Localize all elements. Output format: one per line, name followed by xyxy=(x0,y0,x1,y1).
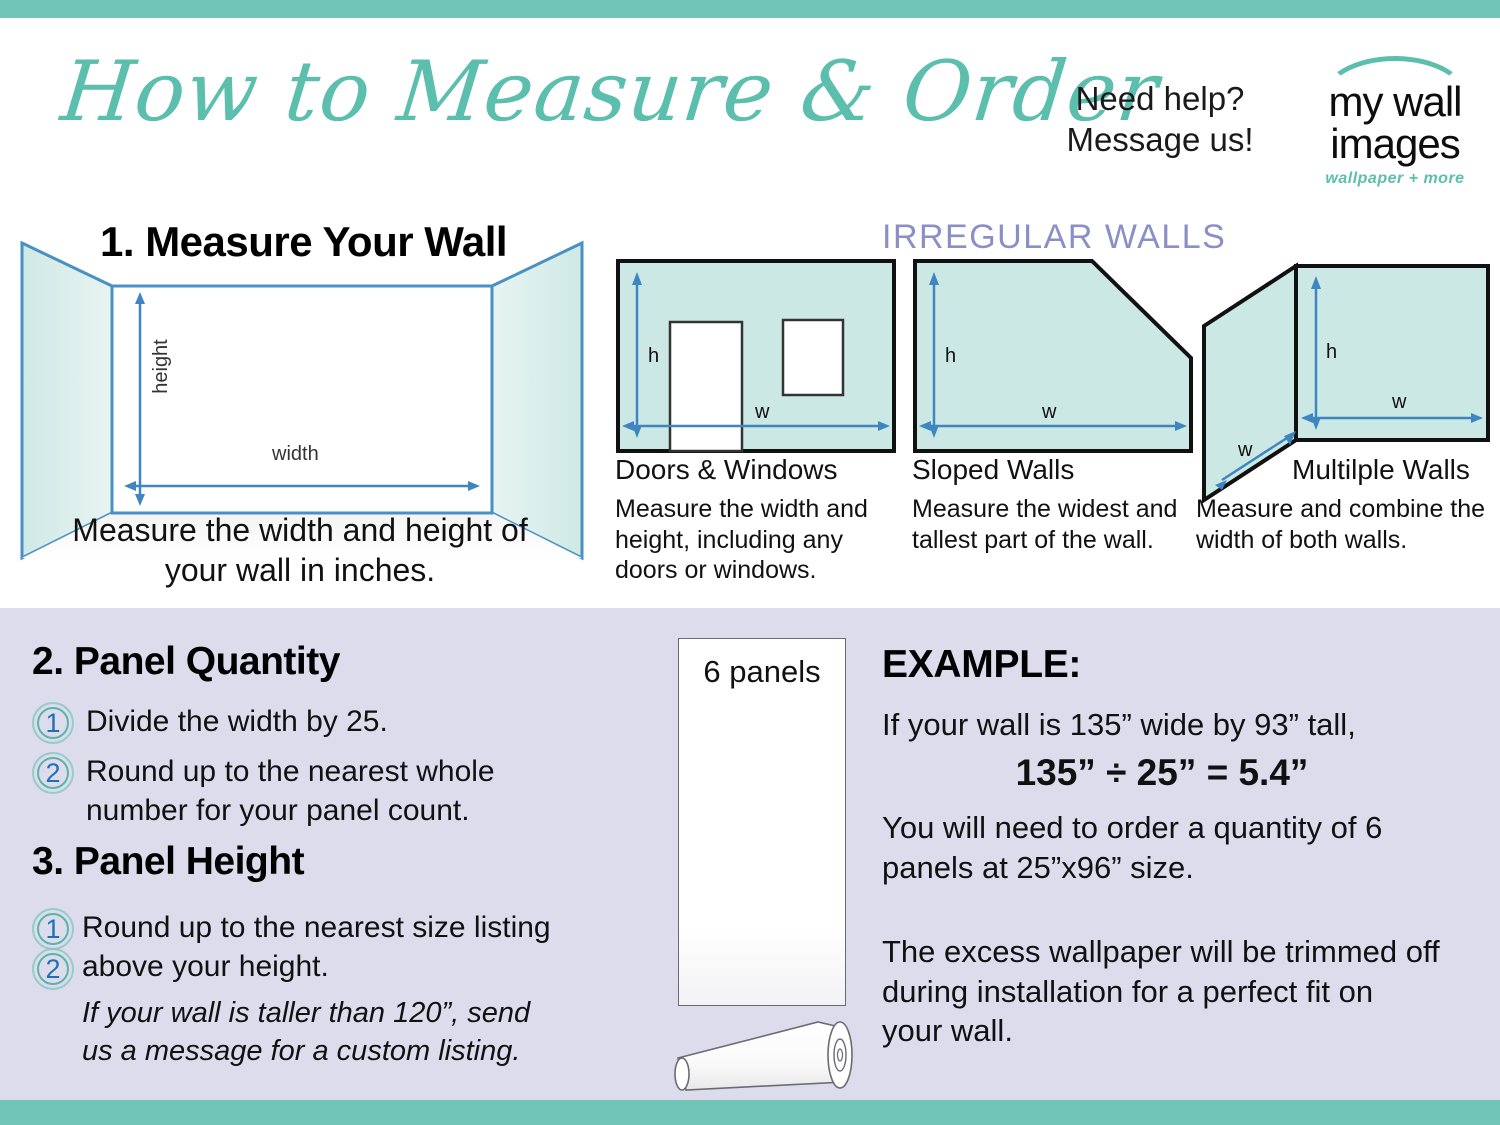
irregular-card-1-body: Measure the width and height, including … xyxy=(615,494,890,586)
step3-heading: 3. Panel Height xyxy=(32,840,304,884)
wallpaper-curl-svg xyxy=(668,998,868,1098)
infographic-page: How to Measure & Order Need help? Messag… xyxy=(0,0,1500,1125)
irregular-card-3-body: Measure and combine the width of both wa… xyxy=(1196,494,1496,555)
example-line-3: The excess wallpaper will be trimmed off… xyxy=(882,932,1442,1051)
example-heading: EXAMPLE: xyxy=(882,643,1081,687)
step3-badge-2: 2 xyxy=(32,948,74,990)
bottom-accent-bar xyxy=(0,1100,1500,1125)
irregular-card-sloped-walls: h w Sloped Walls Measure the widest and … xyxy=(912,258,1194,459)
step2-item-2: Round up to the nearest whole number for… xyxy=(86,752,556,830)
irregular-card-2-body: Measure the widest and tallest part of t… xyxy=(912,494,1182,555)
irregular-card-3-title: Multilple Walls xyxy=(1292,454,1470,486)
sloped-walls-svg: h w xyxy=(912,258,1194,454)
wallpaper-roll-illustration: 6 panels xyxy=(668,638,868,1078)
need-help-text: Need help? Message us! xyxy=(1020,78,1300,161)
example-line-2: You will need to order a quantity of 6 p… xyxy=(882,808,1442,887)
height-dimension-label: height xyxy=(150,335,173,398)
svg-text:h: h xyxy=(648,345,659,367)
irregular-card-multiple-walls: h w w Multilple Walls Measure and combin… xyxy=(1196,258,1496,511)
step3-badge-2-number: 2 xyxy=(32,948,74,990)
svg-text:w: w xyxy=(1391,391,1407,413)
step2-badge-2: 2 xyxy=(32,752,74,794)
logo-word-line-1: my wall xyxy=(1305,82,1485,122)
width-dimension-label: width xyxy=(268,443,323,466)
svg-text:w: w xyxy=(1237,439,1253,461)
doors-windows-svg: h w xyxy=(615,258,897,454)
page-title: How to Measure & Order xyxy=(58,50,1027,133)
step3-note: If your wall is taller than 120”, send u… xyxy=(82,995,562,1070)
logo-tagline: wallpaper + more xyxy=(1305,170,1485,188)
irregular-card-doors-windows: h w Doors & Windows Measure the width an… xyxy=(615,258,897,459)
svg-text:h: h xyxy=(945,345,956,367)
step3-badge-1-number: 1 xyxy=(32,908,74,950)
step2-badge-1-number: 1 xyxy=(32,702,74,744)
irregular-card-1-title: Doors & Windows xyxy=(615,454,838,486)
wallpaper-roll-label: 6 panels xyxy=(678,654,846,690)
irregular-card-2-title: Sloped Walls xyxy=(912,454,1074,486)
brand-logo: my wall images wallpaper + more xyxy=(1305,52,1485,202)
svg-text:w: w xyxy=(754,401,770,423)
logo-word-line-2: images xyxy=(1305,124,1485,164)
need-help-line-1: Need help? xyxy=(1020,78,1300,119)
example-equation: 135” ÷ 25” = 5.4” xyxy=(882,752,1442,794)
step2-heading: 2. Panel Quantity xyxy=(32,640,340,684)
top-accent-bar xyxy=(0,0,1500,18)
svg-text:w: w xyxy=(1041,401,1057,423)
example-line-1: If your wall is 135” wide by 93” tall, xyxy=(882,705,1442,745)
need-help-line-2: Message us! xyxy=(1020,119,1300,160)
step2-badge-2-number: 2 xyxy=(32,752,74,794)
step2-badge-1: 1 xyxy=(32,702,74,744)
step3-badge-1: 1 xyxy=(32,908,74,950)
irregular-walls-heading: IRREGULAR WALLS xyxy=(882,218,1226,257)
wallpaper-sheet xyxy=(678,638,846,1006)
step3-item-text: Round up to the nearest size listing abo… xyxy=(82,908,572,986)
svg-text:h: h xyxy=(1326,341,1337,363)
step2-item-1: Divide the width by 25. xyxy=(86,702,586,741)
step1-caption: Measure the width and height of your wal… xyxy=(40,510,560,590)
